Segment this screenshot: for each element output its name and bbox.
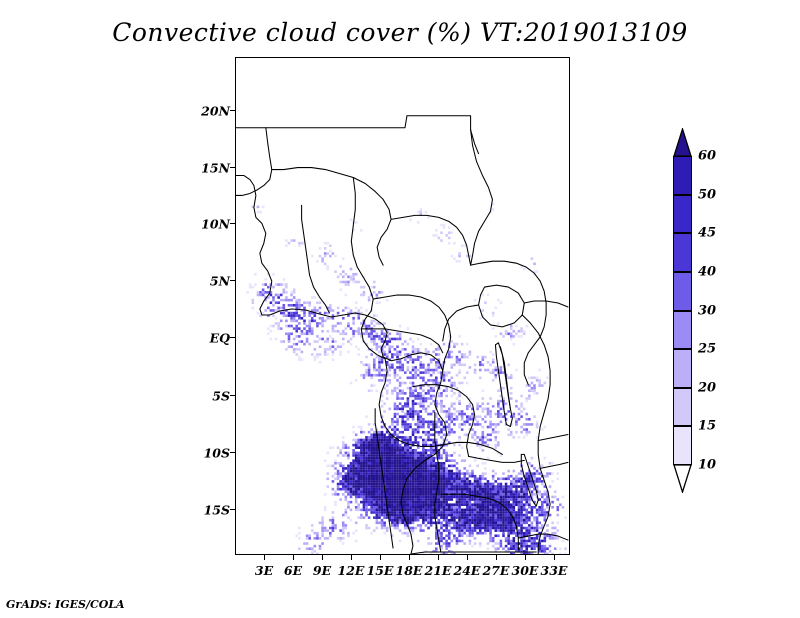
credit-text: GrADS: IGES/COLA [6,598,125,611]
colorbar-label-50: 50 [698,187,716,202]
x-tick-label-33e: 33E [541,563,568,578]
colorbar-bottom-arrow [673,465,692,493]
x-tick-label-6e: 6E [284,563,302,578]
colorbar-label-20: 20 [698,380,716,395]
x-tick-mark-18e [409,555,410,560]
y-tick-label-10s: 10S [196,446,230,461]
colorbar-band-7 [673,426,692,465]
x-tick-label-18e: 18E [396,563,423,578]
y-tick-mark-10n [230,223,235,224]
y-tick-mark-15n [230,167,235,168]
y-tick-mark-15s [230,509,235,510]
x-tick-label-24e: 24E [454,563,481,578]
x-tick-mark-21e [438,555,439,560]
colorbar-label-45: 45 [698,226,716,241]
y-tick-label-10n: 10N [196,217,230,232]
x-tick-label-30e: 30E [512,563,539,578]
x-tick-label-21e: 21E [425,563,452,578]
y-tick-mark-5n [230,280,235,281]
colorbar[interactable]: 605045403025201510 [673,128,692,493]
x-tick-label-3e: 3E [255,563,273,578]
x-tick-label-9e: 9E [313,563,331,578]
x-tick-label-15e: 15E [367,563,394,578]
y-tick-mark-5s [230,395,235,396]
colorbar-top-arrow [673,128,692,156]
colorbar-label-30: 30 [698,303,716,318]
colorbar-band-1 [673,195,692,234]
page-title: Convective cloud cover (%) VT:2019013109 [0,18,800,47]
x-tick-label-12e: 12E [338,563,365,578]
x-tick-mark-30e [525,555,526,560]
colorbar-label-10: 10 [698,458,716,473]
map-canvas [236,58,569,554]
colorbar-label-60: 60 [698,149,716,164]
x-tick-mark-24e [467,555,468,560]
x-tick-mark-15e [380,555,381,560]
y-tick-label-5n: 5N [196,274,230,289]
x-tick-mark-6e [293,555,294,560]
colorbar-band-0 [673,156,692,195]
colorbar-band-6 [673,388,692,427]
x-tick-label-27e: 27E [483,563,510,578]
y-tick-label-eq: EQ [196,331,230,346]
colorbar-label-25: 25 [698,342,716,357]
grads-plot-window: Convective cloud cover (%) VT:2019013109 [0,0,800,618]
x-tick-mark-3e [264,555,265,560]
colorbar-label-15: 15 [698,419,716,434]
y-tick-label-15n: 15N [196,161,230,176]
colorbar-label-40: 40 [698,264,716,279]
y-tick-label-20n: 20N [196,104,230,119]
y-tick-mark-eq [230,337,235,338]
cloud-cover-data-layer [246,203,566,554]
y-tick-label-5s: 5S [196,389,230,404]
colorbar-band-2 [673,233,692,272]
y-tick-mark-10s [230,452,235,453]
x-tick-mark-33e [554,555,555,560]
x-tick-mark-27e [496,555,497,560]
y-tick-label-15s: 15S [196,503,230,518]
colorbar-band-5 [673,349,692,388]
colorbar-band-4 [673,311,692,350]
map-plot-area [235,57,570,555]
y-tick-mark-20n [230,110,235,111]
x-tick-mark-12e [351,555,352,560]
colorbar-band-3 [673,272,692,311]
x-tick-mark-9e [322,555,323,560]
